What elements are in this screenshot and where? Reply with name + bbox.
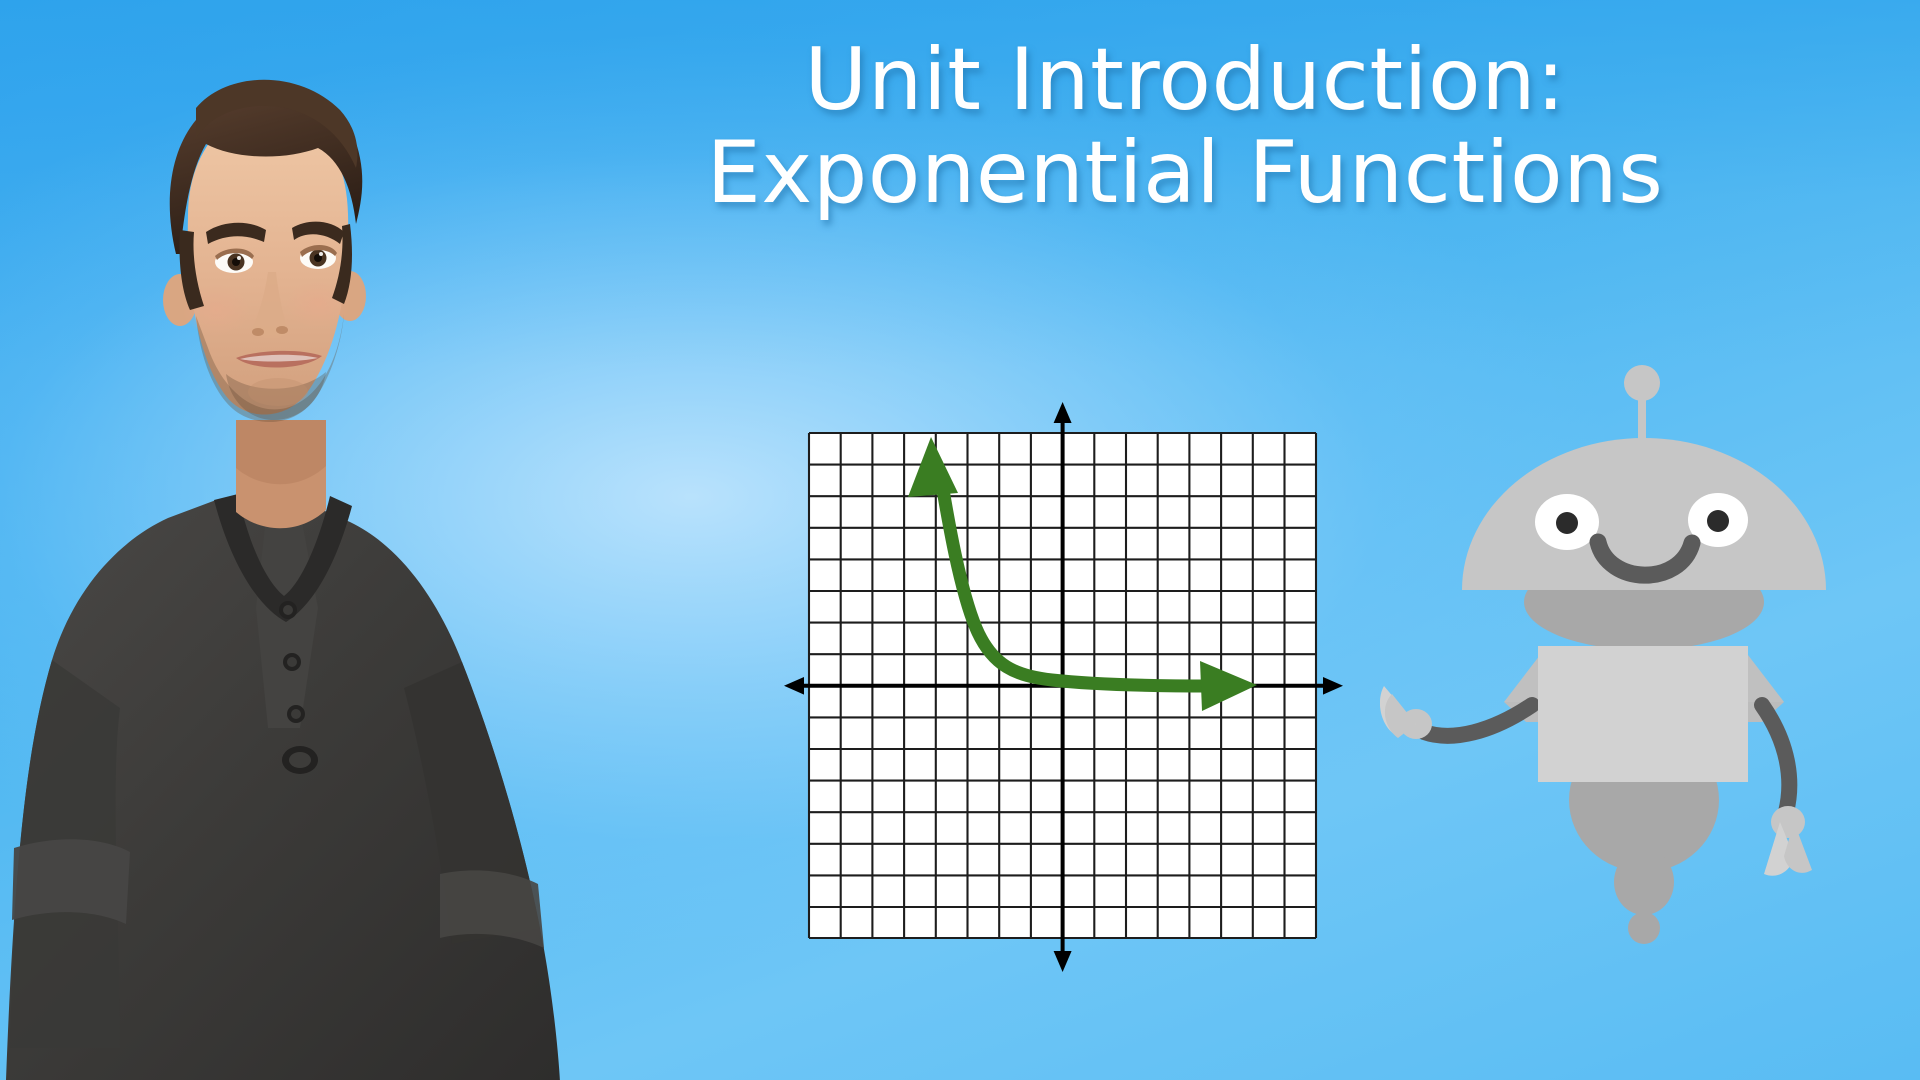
arrowhead-left-icon (784, 677, 804, 695)
arrowhead-right-icon (1323, 677, 1343, 695)
video-slide: Unit Introduction: Exponential Functions (0, 0, 1920, 1080)
robot-claw-right (1764, 806, 1812, 876)
arrowhead-up-icon (1054, 402, 1072, 423)
mascot-robot (1380, 350, 1840, 1010)
presenter-head (163, 80, 366, 422)
exponential-graph (780, 400, 1370, 990)
robot-head (1462, 438, 1826, 590)
presenter-torso (6, 494, 560, 1080)
robot-pupil-left (1556, 512, 1578, 534)
robot-claw-left (1380, 686, 1432, 739)
robot-pupil-right (1707, 510, 1729, 532)
arrowhead-down-icon (1054, 951, 1072, 972)
presenter-neck (236, 420, 326, 528)
presenter-photo (0, 48, 640, 1080)
robot-body (1538, 646, 1748, 782)
